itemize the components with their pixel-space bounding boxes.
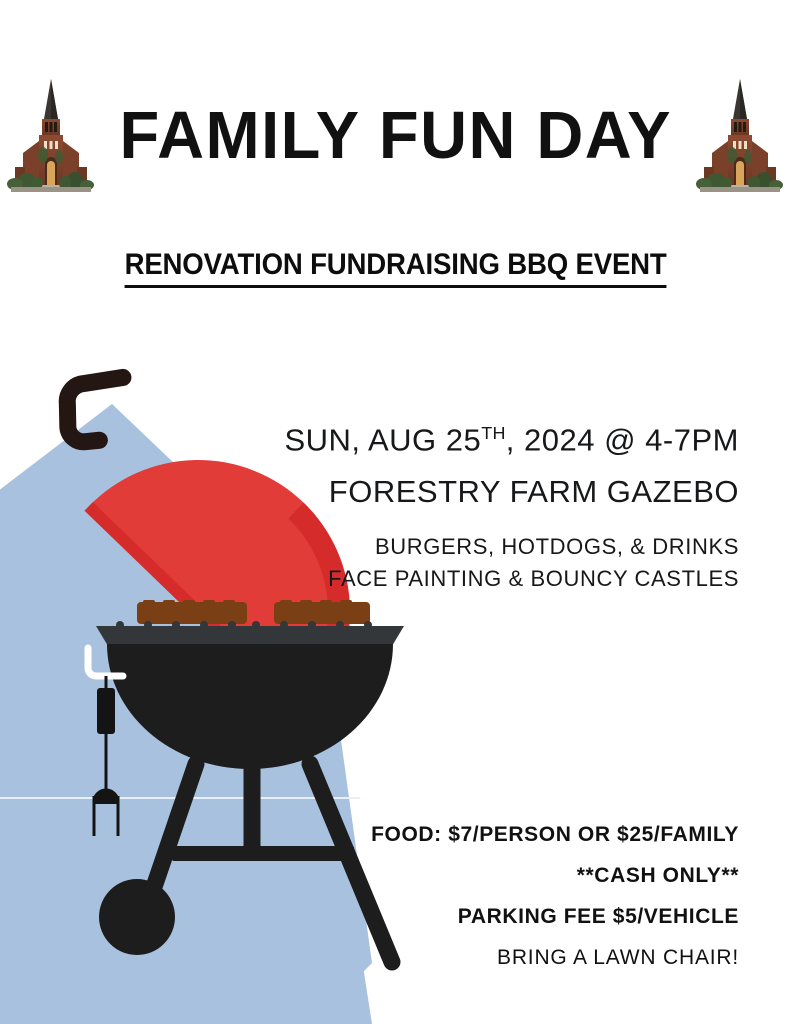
bring-chair-note: BRING A LAWN CHAIR! — [269, 947, 739, 968]
event-date-prefix: SUN, AUG 25 — [284, 422, 481, 457]
grill-grate — [96, 626, 404, 646]
church-photo-right — [690, 75, 790, 195]
flyer-page: FAMILY FUN DAY — [0, 0, 791, 1024]
grill-grate-bumps — [116, 621, 372, 629]
grill-lid-handle — [63, 377, 129, 443]
event-date-suffix: , 2024 @ 4-7PM — [506, 422, 739, 457]
event-date-line: SUN, AUG 25TH, 2024 @ 4-7PM — [269, 424, 739, 457]
grill-meat — [137, 600, 370, 624]
event-details-block: SUN, AUG 25TH, 2024 @ 4-7PM FORESTRY FAR… — [269, 424, 739, 595]
event-venue: FORESTRY FARM GAZEBO — [269, 476, 739, 509]
event-activities-list: FACE PAINTING & BOUNCY CASTLES — [269, 563, 739, 595]
food-price: FOOD: $7/PERSON OR $25/FAMILY — [269, 824, 739, 845]
church-photo-left — [1, 75, 101, 195]
grill-fork — [94, 676, 118, 836]
utensil-hook — [88, 648, 123, 676]
parking-fee: PARKING FEE $5/VEHICLE — [269, 906, 739, 927]
grill-wheel — [99, 879, 175, 955]
event-food-list: BURGERS, HOTDOGS, & DRINKS — [269, 531, 739, 563]
flyer-header: FAMILY FUN DAY — [0, 70, 791, 200]
cash-only-notice: **CASH ONLY** — [269, 865, 739, 886]
grill-bowl — [107, 644, 393, 769]
event-date-ordinal: TH — [481, 423, 506, 443]
event-subtitle: RENOVATION FUNDRAISING BBQ EVENT — [124, 248, 666, 288]
subtitle-container: RENOVATION FUNDRAISING BBQ EVENT — [0, 248, 791, 288]
pricing-block: FOOD: $7/PERSON OR $25/FAMILY **CASH ONL… — [269, 824, 739, 968]
page-title: FAMILY FUN DAY — [119, 102, 671, 169]
